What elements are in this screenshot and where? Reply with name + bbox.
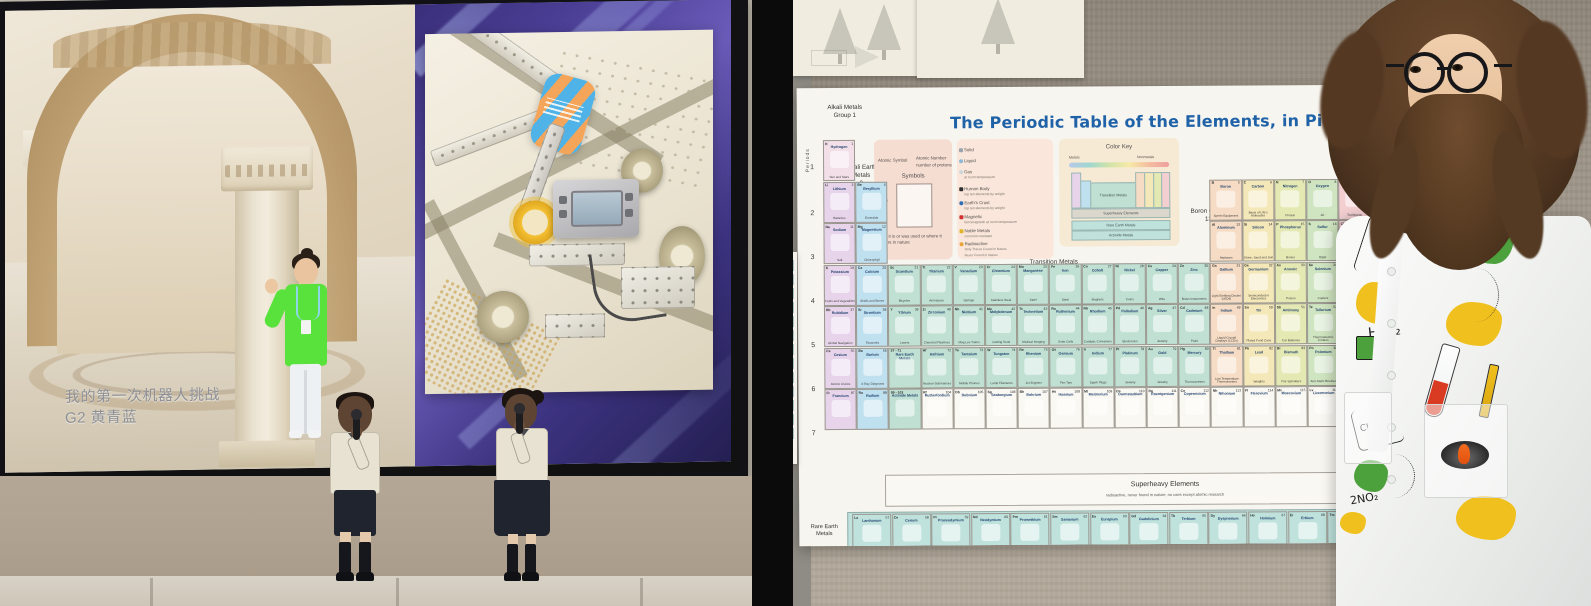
- element-name: Phosphorus: [1275, 226, 1305, 230]
- color-key-metals-label: Metals: [1069, 156, 1080, 160]
- element-pictogram: [895, 275, 914, 292]
- element-name: Mercury: [1179, 351, 1209, 355]
- element-use: Global Navigation: [825, 342, 855, 345]
- key-note: How it is or was used or where it occurs…: [878, 233, 946, 245]
- element-name: Roentgenium: [1147, 392, 1177, 396]
- element-cell-thallium: Tl81ThalliumLow Temperature Thermometers: [1211, 345, 1243, 386]
- floor-seam: [150, 578, 153, 606]
- element-pictogram: [830, 234, 849, 251]
- student-presenter-left: [322, 392, 392, 584]
- element-cell-rhodium: Rh45RhodiumCatalytic Converters: [1082, 304, 1114, 345]
- element-cell-carbon: C6CarbonBasis of Life's Molecules: [1242, 179, 1274, 220]
- element-pictogram: [863, 358, 882, 375]
- key-symbols-title: Symbols: [874, 173, 952, 179]
- period-number: 3: [811, 254, 815, 261]
- element-name: Scandium: [889, 269, 919, 273]
- element-cell-bismuth: Bi83BismuthFire Sprinklers: [1275, 345, 1307, 386]
- element-cell-neodymium: Nd60NeodymiumElectric Motor Magnets: [971, 513, 1010, 546]
- element-name: Darmstadtium: [1115, 393, 1145, 397]
- element-use: Batteries: [824, 217, 854, 220]
- element-cell-gallium: Ga31GalliumLight Emitting Diodes (LEDs): [1210, 262, 1242, 303]
- key-liquid: Liquid: [964, 158, 976, 163]
- element-pictogram: [1217, 273, 1236, 290]
- element-pictogram: [992, 316, 1011, 333]
- element-cell-cerium: Ce58CeriumLighter Flints: [892, 513, 931, 546]
- magnetic-icon: [959, 215, 963, 219]
- element-use: Bones: [1275, 256, 1305, 259]
- icon-key-panel: Solid Liquid Gas at room temperature Hum…: [957, 139, 1054, 260]
- key-solid: Solid: [964, 147, 974, 152]
- element-name: Cadmium: [1179, 309, 1209, 313]
- color-key-title: Color Key: [1059, 144, 1179, 151]
- color-band-halogens: [1161, 172, 1170, 208]
- element-cell-rutherfordium: Rf104Rutherfordium: [921, 388, 953, 429]
- element-use: Brass Instruments: [1179, 298, 1209, 301]
- sample-element-cell: [896, 183, 932, 227]
- element-name: Boron: [1211, 184, 1241, 188]
- element-cell-mercury: Hg80MercuryThermometers: [1178, 345, 1210, 386]
- left-photo-auditorium: 我的第一次机器人挑战 G2 黄青蓝: [0, 0, 752, 606]
- element-cell-actinide-metals: 89 - 103Actinide Metals: [889, 389, 921, 430]
- key-atomic-number-note: number of protons: [916, 162, 952, 167]
- element-use: Jewelry: [1147, 340, 1177, 343]
- element-use: Atomic Clocks: [825, 383, 855, 386]
- element-pictogram: [1153, 315, 1172, 332]
- element-use: Basis of Life's Molecules: [1243, 211, 1273, 218]
- floor-seam: [396, 578, 399, 606]
- element-pictogram: [831, 317, 850, 334]
- element-name: Silicon: [1243, 226, 1273, 230]
- element-cell-scandium: Sc21ScandiumBicycles: [888, 264, 920, 305]
- element-cell-antimony: Sb51AntimonyCar Batteries: [1275, 303, 1307, 344]
- key-human-body: Human Body: [964, 186, 989, 191]
- element-cell-europium: Eu63EuropiumColor Televisions: [1090, 512, 1129, 546]
- key-noble-metals: Noble Metals: [964, 228, 990, 233]
- element-name: Tungsten: [986, 352, 1016, 356]
- key-gas-note: at room temperature: [964, 175, 995, 179]
- element-name: Rhenium: [1018, 352, 1048, 356]
- period-number: 4: [811, 298, 815, 305]
- element-pictogram: [1121, 398, 1140, 415]
- element-use: Jet Engines: [1019, 382, 1049, 385]
- element-name: Ruthenium: [1050, 310, 1080, 314]
- element-name: Germanium: [1243, 267, 1273, 271]
- element-name: Strontium: [857, 311, 887, 315]
- period-number: 2: [810, 210, 814, 217]
- microphone: [353, 414, 360, 440]
- element-use: Protein: [1275, 214, 1305, 217]
- period-number: 5: [811, 342, 815, 349]
- element-pictogram: [863, 317, 882, 334]
- element-pictogram: [1185, 273, 1204, 290]
- element-cell-seaborgium: Sg106Seaborgium: [985, 388, 1017, 429]
- element-cell-rubidium: Rb37RubidiumGlobal Navigation: [824, 306, 856, 347]
- solid-icon: [959, 148, 963, 152]
- element-cell-iron: Fe26IronSteel: [1049, 263, 1081, 304]
- element-cell-iridium: Ir77IridiumSpark Plugs: [1082, 346, 1114, 387]
- element-pictogram: [862, 525, 881, 542]
- element-use: Sports Equipment: [1211, 215, 1241, 218]
- element-name: Aluminum: [1211, 226, 1241, 230]
- key-never: Never Found in Nature: [965, 253, 1047, 258]
- element-name: Holmium: [1249, 517, 1286, 521]
- element-cell-praseodymium: Pr59PraseodymiumTorchbearers Goggles: [931, 513, 970, 546]
- element-use: Lamp Filaments: [986, 382, 1016, 385]
- element-pictogram: [895, 400, 914, 417]
- element-name: Seaborgium: [986, 393, 1016, 397]
- element-pictogram: [1024, 357, 1043, 374]
- element-name: Lithium: [824, 187, 854, 191]
- element-name: Meitnerium: [1083, 393, 1113, 397]
- element-name: Cerium: [893, 519, 930, 523]
- element-name: Copper: [1147, 268, 1177, 272]
- element-use: Bicycles: [889, 300, 919, 303]
- element-cell-meitnerium: Mt109Meitnerium: [1082, 387, 1114, 428]
- element-pictogram: [1088, 274, 1107, 291]
- element-name: Bismuth: [1276, 350, 1306, 354]
- element-use: Jewelry: [1115, 381, 1145, 384]
- color-band-superheavy: Superheavy Elements: [1071, 208, 1170, 219]
- element-name: Molybdenum: [986, 310, 1016, 314]
- element-use: Mag Lev Trains: [954, 341, 984, 344]
- element-name: Palladium: [1115, 310, 1145, 314]
- element-use: Coins: [1115, 298, 1145, 301]
- element-name: Cobalt: [1082, 268, 1112, 272]
- dotted-path-doodle: [1452, 268, 1499, 322]
- color-band-actinide: Actinide Metals: [1071, 230, 1170, 241]
- element-name: Silver: [1147, 309, 1177, 313]
- key-traces: Only Traces Found in Nature: [965, 247, 1047, 252]
- eye-right: [1452, 64, 1463, 71]
- element-name: Indium: [1211, 309, 1241, 313]
- element-pictogram: [960, 358, 979, 375]
- element-name: Sodium: [824, 228, 854, 232]
- glasses-bridge: [1437, 67, 1449, 70]
- key-gas: Gas: [964, 169, 972, 174]
- element-name: Nihonium: [1212, 392, 1242, 396]
- element-pictogram: [1024, 399, 1043, 416]
- element-use: Fire Sprinklers: [1276, 380, 1306, 383]
- element-use: Jewelry: [1147, 381, 1177, 384]
- glasses-lens-right: [1447, 52, 1488, 93]
- element-pictogram: [927, 358, 946, 375]
- element-name: Francium: [825, 394, 855, 398]
- color-key-nonmetals-label: Nonmetals: [1137, 155, 1154, 159]
- element-cell-tin: Sn50TinPlated Food Cans: [1243, 303, 1275, 344]
- element-pictogram: [1088, 357, 1107, 374]
- floor-seam: [640, 578, 643, 606]
- element-use: Chlorophyll: [857, 258, 887, 261]
- element-pictogram: [1021, 524, 1040, 541]
- element-name: Dubnium: [954, 394, 984, 398]
- element-use: Sun and Stars: [824, 176, 854, 179]
- element-name: Antimony: [1276, 309, 1306, 313]
- element-use: Low Temperature Thermometers: [1212, 378, 1242, 385]
- element-use: Wire: [1147, 298, 1177, 301]
- element-use: Salt: [825, 259, 855, 262]
- period-number: 1: [810, 164, 814, 171]
- element-name: Flerovium: [1244, 392, 1274, 396]
- element-cell-cesium: Cs55CesiumAtomic Clocks: [824, 347, 856, 388]
- paint-splatter: [1456, 496, 1516, 540]
- color-band-rare-earth: Rare Earth Metals: [1071, 220, 1170, 231]
- coat-side-pocket: [1344, 392, 1392, 464]
- element-cell-copernicium: Cn112Copernicium: [1179, 387, 1211, 428]
- element-cell-yttrium: Y39YttriumLasers: [888, 306, 920, 347]
- element-name: Iridium: [1083, 351, 1113, 355]
- formula-doodle: 2NO₂: [1349, 490, 1379, 508]
- element-pictogram: [1258, 522, 1277, 539]
- element-cell-bohrium: Bh107Bohrium: [1018, 388, 1050, 429]
- decorated-lab-coat: CH₃ H₂O₂ 2NO₂ CH₄O: [1336, 216, 1591, 606]
- element-use: Weights: [1244, 381, 1274, 384]
- element-name: Arsenic: [1276, 267, 1306, 271]
- element-cell-gadolinium: Gd64GadoliniumMRI Diagnosis: [1129, 512, 1168, 546]
- element-cell-dysprosium: Dy66DysprosiumSmart Material Actuators: [1209, 512, 1248, 547]
- element-name: Gold: [1147, 351, 1177, 355]
- element-name: Beryllium: [856, 187, 886, 191]
- element-cell-nihonium: Nh113Nihonium: [1211, 387, 1243, 428]
- element-name: Tin: [1244, 309, 1274, 313]
- element-cell-francium: Fr87Francium: [824, 389, 856, 430]
- element-cell-roentgenium: Rg111Roentgenium: [1146, 387, 1178, 428]
- glasses-temple: [1386, 64, 1404, 67]
- key-human-body-note: top ten elements by weight: [964, 192, 1004, 196]
- element-name: Hassium: [1051, 393, 1081, 397]
- key-magnetic: Magnetic: [964, 214, 982, 219]
- element-cell-calcium: Ca20CalciumShells and Bones: [856, 264, 888, 305]
- element-cell-palladium: Pd46PalladiumElectronics: [1114, 304, 1146, 345]
- element-name: Iron: [1050, 268, 1080, 272]
- student-drawing-right: [917, 0, 1084, 78]
- element-pictogram: [863, 275, 882, 292]
- element-name: Radium: [858, 394, 888, 398]
- element-name: Manganese: [1018, 269, 1048, 273]
- period-number: 7: [812, 430, 816, 437]
- period-number: 6: [811, 386, 815, 393]
- element-name: Calcium: [857, 270, 887, 274]
- radioactive-icon: [960, 242, 964, 246]
- element-pictogram: [927, 275, 946, 292]
- color-key-panel: Color Key Metals Nonmetals Transition Me…: [1059, 138, 1180, 247]
- element-use: Cutting Tools: [986, 341, 1016, 344]
- element-cell-samarium: Sm62SamariumElectric Motor Magnets: [1050, 512, 1089, 546]
- microphone: [516, 408, 523, 434]
- element-name: Samarium: [1051, 518, 1088, 522]
- element-pictogram: [1282, 397, 1301, 414]
- element-use: Aerospace: [921, 300, 951, 303]
- element-cell-copper: Cu29CopperWire: [1146, 262, 1178, 303]
- element-pictogram: [991, 274, 1010, 291]
- element-cell-holmium: Ho67HolmiumLaser Surgery: [1248, 511, 1287, 546]
- element-use: Light Emitting Diodes (LEDs): [1211, 295, 1241, 302]
- element-pictogram: [1185, 315, 1204, 332]
- element-name: Niobium: [954, 311, 984, 315]
- element-name: Magnesium: [857, 228, 887, 232]
- coat-button: [1388, 372, 1395, 379]
- element-pictogram: [1152, 273, 1171, 290]
- student-presenter-right: [486, 388, 560, 584]
- element-name: Rutherfordium: [922, 394, 952, 398]
- element-name: Titanium: [921, 269, 951, 273]
- element-cell-molybdenum: Mo42MolybdenumCutting Tools: [985, 305, 1017, 346]
- chinese-character-chart: 汉文字 食字骨 产字文 弓字大 子字骨 女字骨 妇出骨 马字骨 如文成 才字骨 …: [793, 252, 797, 464]
- element-cell-dubnium: Db105Dubnium: [953, 388, 985, 429]
- element-use: Catalytic Converters: [1083, 340, 1113, 343]
- element-use: Steel: [1050, 299, 1080, 302]
- element-pictogram: [1281, 231, 1300, 248]
- element-name: Rubidium: [825, 311, 855, 315]
- element-name: Lead: [1244, 350, 1274, 354]
- element-pictogram: [1249, 273, 1268, 290]
- element-use: Fruits and Vegetables: [825, 300, 855, 303]
- element-use: Solar Cells: [1051, 340, 1081, 343]
- element-pictogram: [992, 399, 1011, 416]
- element-pictogram: [1179, 523, 1198, 540]
- element-name: Europium: [1091, 518, 1128, 522]
- element-name: Promethium: [1012, 518, 1049, 522]
- element-cell-silver: Ag47SilverJewelry: [1146, 304, 1178, 345]
- screenshot-root: 我的第一次机器人挑战 G2 黄青蓝: [0, 0, 1591, 606]
- element-name: Osmium: [1051, 351, 1081, 355]
- element-cell-ruthenium: Ru44RutheniumSolar Cells: [1049, 305, 1081, 346]
- key-atomic-symbol: Atomic Symbol: [878, 158, 907, 163]
- element-use: Thermometers: [1180, 381, 1210, 384]
- period-axis: Periods 1 2 3 4 5 6 7: [808, 142, 821, 472]
- element-name: Platinum: [1115, 351, 1145, 355]
- glasses-lens-left: [1404, 52, 1445, 93]
- element-pictogram: [1219, 523, 1238, 540]
- element-name: Terbium: [1170, 517, 1207, 521]
- element-cell-radium: Ra88Radium: [857, 389, 889, 430]
- noble-metals-icon: [959, 229, 963, 233]
- element-pictogram: [1249, 231, 1268, 248]
- element-cell-hassium: Hs108Hassium: [1050, 388, 1082, 429]
- element-name: Zinc: [1179, 268, 1209, 272]
- element-cell-magnesium: Mg12MagnesiumChlorophyll: [856, 223, 888, 264]
- student-drawing-left: [793, 0, 920, 76]
- key-earth-crust-note: top ten elements by weight: [964, 206, 1004, 210]
- element-cell-lead: Pb82LeadWeights: [1243, 345, 1275, 386]
- element-cell-rhenium: Re75RheniumJet Engines: [1017, 346, 1049, 387]
- element-name: Moscovium: [1276, 392, 1306, 396]
- element-pictogram: [981, 524, 1000, 541]
- element-name: Barium: [857, 353, 887, 357]
- element-cell-rare-earth-metals: 57 - 71Rare Earth Metals: [889, 347, 921, 388]
- element-name: Thallium: [1212, 350, 1242, 354]
- element-pictogram: [941, 524, 960, 541]
- element-use: Spark Plugs: [1083, 382, 1113, 385]
- element-pictogram: [863, 400, 882, 417]
- element-pictogram: [830, 192, 849, 209]
- element-use: Lasers: [890, 341, 920, 344]
- element-pictogram: [1024, 316, 1043, 333]
- element-cell-darmstadtium: Ds110Darmstadtium: [1114, 387, 1146, 428]
- element-name: Gadolinium: [1130, 517, 1167, 521]
- element-cell-hydrogen: H1HydrogenSun and Stars: [823, 140, 855, 181]
- element-pictogram: [959, 316, 978, 333]
- element-pictogram: [862, 192, 881, 209]
- element-pictogram: [1056, 316, 1075, 333]
- element-cell-moscovium: Mc115Moscovium: [1275, 386, 1307, 427]
- element-cell-germanium: Ge32GermaniumSemiconductor Electronics: [1242, 262, 1274, 303]
- element-pictogram: [960, 399, 979, 416]
- glasses-temple: [1494, 64, 1512, 67]
- element-pictogram: [895, 358, 914, 375]
- element-cell-titanium: Ti22TitaniumAerospace: [920, 264, 952, 305]
- element-pictogram: [1121, 357, 1140, 374]
- element-pictogram: [1250, 397, 1269, 414]
- element-pictogram: [1088, 315, 1107, 332]
- key-earth-crust: Earth's Crust: [964, 200, 989, 205]
- element-name: Chromium: [986, 269, 1016, 273]
- element-cell-sodium: Na11SodiumSalt: [823, 223, 855, 264]
- element-use: Magnets: [1082, 299, 1112, 302]
- element-cell-chromium: Cr24ChromiumStainless Steel: [985, 263, 1017, 304]
- element-pictogram: [1216, 232, 1235, 249]
- element-name: Tantalum: [954, 352, 984, 356]
- liquid-icon: [959, 159, 963, 163]
- element-name: Nitrogen: [1275, 184, 1305, 188]
- element-cell-technetium: Tc43TechnetiumMedical Imaging: [1017, 305, 1049, 346]
- element-pictogram: [1089, 398, 1108, 415]
- element-pictogram: [928, 399, 947, 416]
- element-pictogram: [1024, 274, 1043, 291]
- element-use: Shells and Bones: [857, 300, 887, 303]
- element-pictogram: [831, 358, 850, 375]
- element-cell-aluminum: Al13AluminumAirplanes: [1210, 221, 1242, 262]
- element-name: Gallium: [1211, 267, 1241, 271]
- element-cell-strontium: Sr38StrontiumFireworks: [856, 306, 888, 347]
- element-pictogram: [830, 151, 849, 168]
- element-use: Electronics: [1115, 340, 1145, 343]
- element-cell-potassium: K19PotassiumFruits and Vegetables: [824, 264, 856, 305]
- element-pictogram: [992, 357, 1011, 374]
- element-cell-beryllium: Be4BerylliumEmeralds: [855, 181, 887, 222]
- element-cell-cobalt: Co27CobaltMagnets: [1081, 263, 1113, 304]
- element-cell-boron: B5BoronSports Equipment: [1210, 179, 1242, 220]
- element-pictogram: [1248, 190, 1267, 207]
- element-pictogram: [1153, 356, 1172, 373]
- element-cell-cadmium: Cd48CadmiumPaint: [1178, 304, 1210, 345]
- element-pictogram: [1056, 399, 1075, 416]
- coat-button: [1388, 268, 1395, 275]
- element-name: Nickel: [1115, 268, 1145, 272]
- earth-crust-icon: [959, 201, 963, 205]
- element-name: Potassium: [825, 270, 855, 274]
- element-use: Medical Imaging: [1018, 340, 1048, 343]
- element-name: Yttrium: [889, 311, 919, 315]
- element-name: Dysprosium: [1210, 517, 1247, 521]
- element-cell-tantalum: Ta73TantalumMobile Phones: [953, 347, 985, 388]
- element-cell-nitrogen: N7NitrogenProtein: [1274, 179, 1306, 220]
- element-name: Lanthanum: [853, 519, 890, 523]
- element-pictogram: [1185, 356, 1204, 373]
- element-cell-indium: In49IndiumLiquid Crystal Displays (LCDs): [1210, 304, 1242, 345]
- element-pictogram: [862, 234, 881, 251]
- element-pictogram: [1281, 314, 1300, 331]
- element-pictogram: [1056, 357, 1075, 374]
- element-use: Liquid Crystal Displays (LCDs): [1212, 336, 1242, 343]
- element-pictogram: [1281, 190, 1300, 207]
- element-name: Vanadium: [954, 269, 984, 273]
- element-use: Pen Tips: [1051, 382, 1081, 385]
- element-pictogram: [1120, 274, 1139, 291]
- element-use: Chemical Pipelines: [922, 341, 952, 344]
- element-cell-platinum: Pt78PlatinumJewelry: [1114, 346, 1146, 387]
- element-name: Actinide Metals: [890, 394, 920, 398]
- element-cell-lanthanum: La57LanthanumTelescope Lenses: [852, 514, 891, 547]
